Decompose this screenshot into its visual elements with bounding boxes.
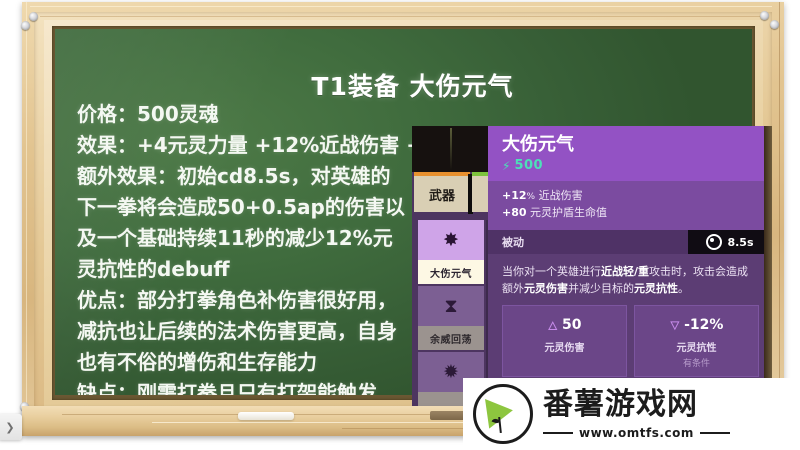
watermark-site-name: 番薯游戏网	[543, 389, 730, 421]
slot-item-daoshangyuanqi[interactable]: ✸ 大伤元气	[418, 220, 484, 284]
stat-row: +80 元灵护盾生命值	[502, 205, 758, 222]
resist-value: -12%	[684, 317, 723, 333]
page-title: T1装备 大伤元气	[55, 67, 752, 103]
damage-name: 元灵伤害	[507, 339, 622, 354]
burst-icon: ✸	[418, 220, 484, 260]
slot-label: 大伤元气	[418, 260, 484, 284]
resist-name: 元灵抗性	[639, 339, 754, 354]
stat-row: +12% 近战伤害	[502, 188, 758, 205]
light-streak	[450, 128, 452, 170]
frame-screw	[29, 12, 38, 21]
watermark-logo-icon	[473, 384, 533, 444]
flame-icon: 🜂	[548, 312, 559, 337]
card-stats: +12% 近战伤害 +80 元灵护盾生命值	[488, 181, 772, 230]
cooldown-icon	[706, 234, 722, 250]
rule-left	[543, 432, 573, 434]
card-title: 大伤元气	[502, 135, 760, 155]
stat-value: +80	[502, 206, 527, 219]
stat-value: +12	[502, 189, 527, 202]
card-passive-bar: 被动 8.5s	[488, 230, 772, 254]
game-screenshot-overlay: 武器 ✸ 大伤元气 ⧗ 余威回荡 ✹ 大伤元气	[412, 126, 772, 416]
frame-screw	[760, 11, 769, 20]
cooldown-value: 8.5s	[727, 236, 753, 249]
slot-item-yuweihuidang[interactable]: ⧗ 余威回荡	[418, 286, 484, 350]
damage-value: 50	[562, 317, 581, 333]
card-price-value: 500	[514, 158, 543, 173]
cooldown-badge: 8.5s	[688, 230, 772, 254]
resist-box: 🜄 -12% 元灵抗性 有条件	[634, 305, 759, 377]
card-header: 大伤元气 ⚡ 500	[488, 126, 772, 181]
slot-weapon[interactable]: 武器	[414, 172, 470, 212]
card-damage-boxes: 🜂 50 元灵伤害 🜄 -12% 元灵抗性 有条件	[488, 305, 772, 377]
soul-currency-icon: ⚡	[502, 159, 510, 173]
rule-right	[700, 432, 730, 434]
frame-screw	[21, 21, 30, 30]
watermark: 番薯游戏网 www.omtfs.com	[463, 378, 800, 450]
game-right-edge	[764, 126, 772, 416]
item-tooltip-card: 大伤元气 ⚡ 500 +12% 近战伤害 +80 元灵护盾生命值 被动 8.	[488, 126, 772, 416]
description-line: 额外元灵伤害并减少目标的元灵抗性。	[502, 280, 759, 297]
damage-box-top: 🜂 50	[507, 312, 622, 337]
card-price: ⚡ 500	[502, 158, 760, 173]
hourglass-icon: ⧗	[418, 286, 484, 326]
watermark-text: 番薯游戏网 www.omtfs.com	[543, 389, 730, 440]
droplet-icon: 🜄	[670, 312, 681, 337]
stat-unit: %	[527, 192, 536, 202]
column-top-shadow	[412, 126, 492, 172]
chalk-stick	[238, 412, 294, 420]
description-line: 当你对一个英雄进行近战轻/重攻击时，攻击会造成	[502, 263, 759, 280]
resist-box-top: 🜄 -12%	[639, 312, 754, 337]
stat-label: 元灵护盾生命值	[530, 206, 607, 219]
stat-label: 近战伤害	[539, 189, 583, 202]
resist-condition: 有条件	[639, 356, 754, 369]
slot-label: 余威回荡	[418, 326, 484, 350]
watermark-url-row: www.omtfs.com	[543, 426, 730, 440]
passive-label: 被动	[502, 234, 524, 250]
watermark-url: www.omtfs.com	[579, 426, 694, 440]
frame-screw	[770, 20, 779, 29]
card-description: 当你对一个英雄进行近战轻/重攻击时，攻击会造成 额外元灵伤害并减少目标的元灵抗性…	[488, 254, 772, 305]
slot-weapon-label: 武器	[414, 176, 470, 212]
damage-box: 🜂 50 元灵伤害	[502, 305, 627, 377]
screenshot-stage: T1装备 大伤元气 价格：500灵魂 效果：+4元灵力量 +12%近战伤害 +8…	[0, 0, 800, 450]
side-chevron-icon[interactable]: ❯	[0, 414, 22, 440]
item-slot-column: 武器 ✸ 大伤元气 ⧗ 余威回荡 ✹	[412, 126, 492, 416]
